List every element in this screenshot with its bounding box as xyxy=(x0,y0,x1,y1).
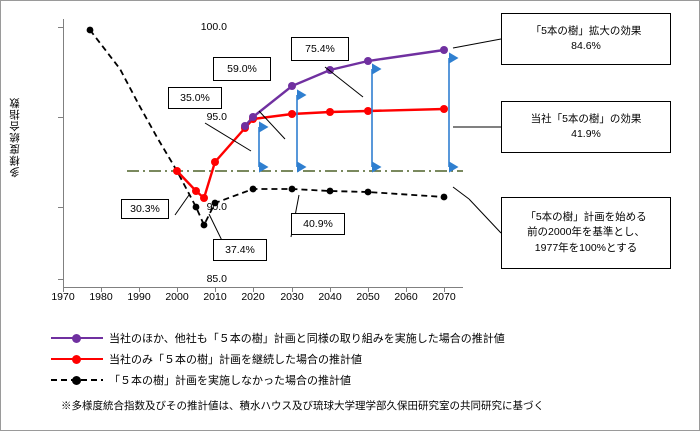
legend-item-industry-wide: 当社のほか、他社も「５本の樹」計画と同様の取り組みを実施した場合の推計値 xyxy=(51,327,671,348)
legend-label-industry-wide: 当社のほか、他社も「５本の樹」計画と同様の取り組みを実施した場合の推計値 xyxy=(109,330,505,346)
legend-item-company-only: 当社のみ「５本の樹」計画を継続した場合の推計値 xyxy=(51,348,671,369)
legend: 当社のほか、他社も「５本の樹」計画と同様の取り組みを実施した場合の推計値 当社の… xyxy=(51,327,671,413)
legend-key-no-plan xyxy=(51,373,103,387)
legend-key-company-only xyxy=(51,352,103,366)
legend-label-no-plan: 「５本の樹」計画を実施しなかった場合の推計値 xyxy=(109,372,351,388)
chart-figure: 多様度統合指数 100.0 95.0 90.0 85.0 1970 1980 1… xyxy=(0,0,700,431)
legend-note: ※多様度統合指数及びその推計値は、積水ハウス及び琉球大学理学部久保田研究室の共同… xyxy=(61,398,671,413)
legend-item-no-plan: 「５本の樹」計画を実施しなかった場合の推計値 xyxy=(51,369,671,390)
legend-key-industry-wide xyxy=(51,331,103,345)
legend-label-company-only: 当社のみ「５本の樹」計画を継続した場合の推計値 xyxy=(109,351,362,367)
